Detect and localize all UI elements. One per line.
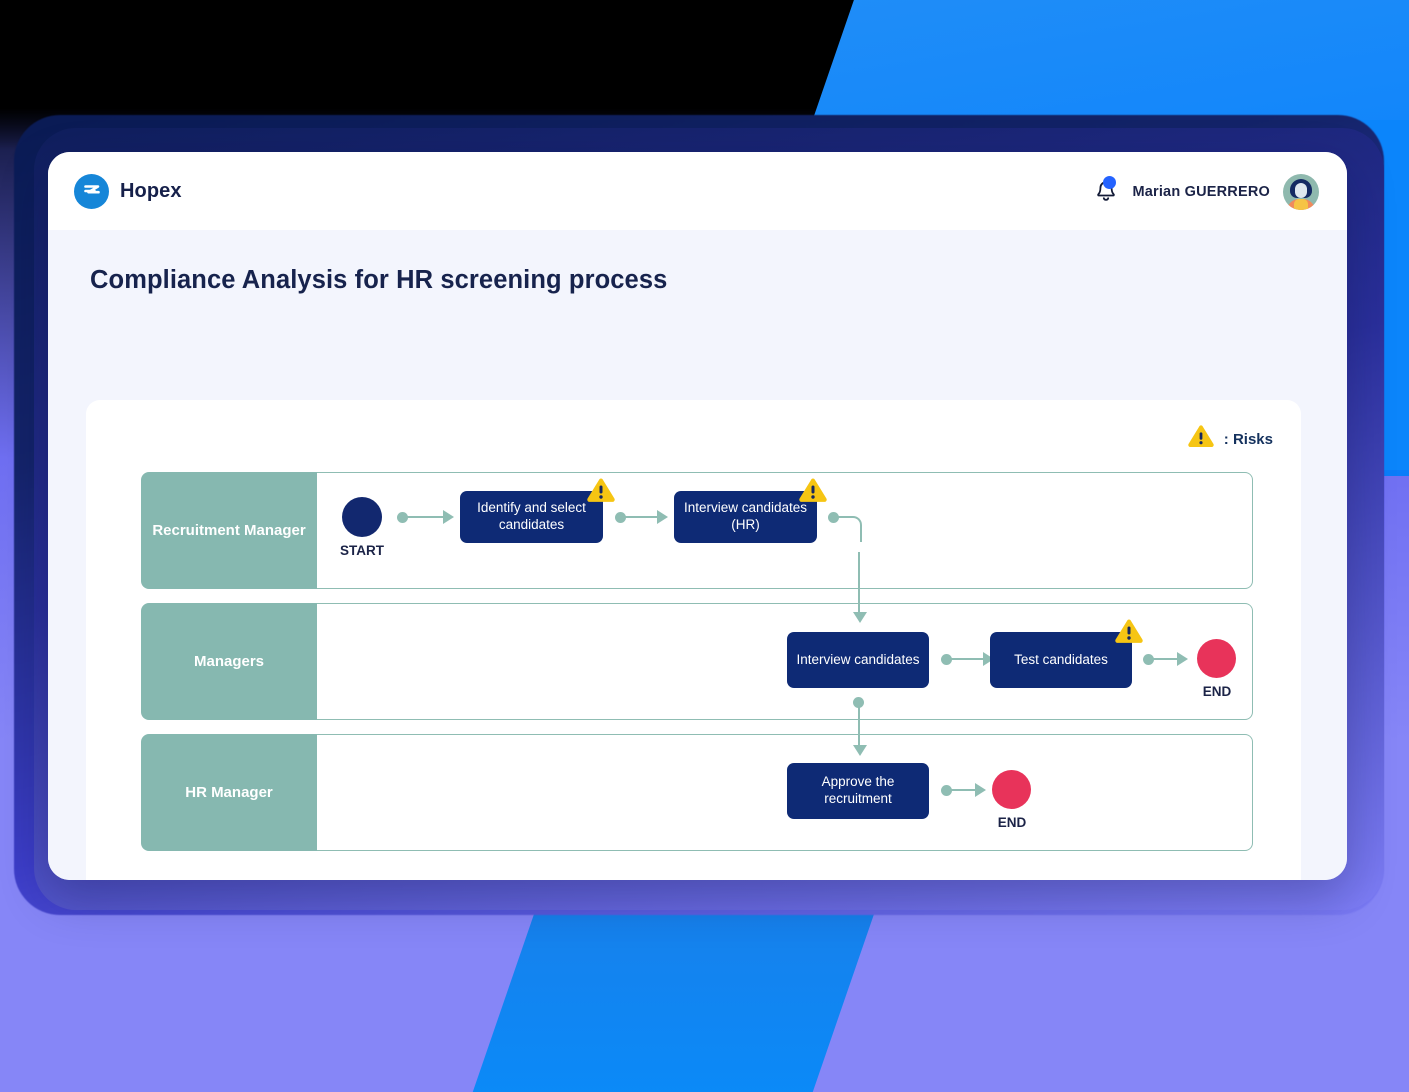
- flow-line: [1153, 658, 1179, 660]
- legend-label: : Risks: [1224, 431, 1273, 448]
- task-interview-candidates[interactable]: Interview candidates: [787, 632, 929, 688]
- page-body: Compliance Analysis for HR screening pro…: [48, 230, 1347, 880]
- end-event-label: END: [1177, 684, 1257, 699]
- task-identify-select-candidates[interactable]: Identify and select candidates: [460, 491, 603, 543]
- lane-header-hr-manager[interactable]: HR Manager: [141, 734, 317, 851]
- brand-logo[interactable]: Hopex: [74, 174, 294, 209]
- flow-line: [951, 789, 977, 791]
- flow-arrowhead: [443, 510, 454, 524]
- flow-arrowhead: [853, 745, 867, 756]
- flow-arrowhead: [1177, 652, 1188, 666]
- avatar-shirt: [1294, 199, 1308, 210]
- end-event-node[interactable]: [1197, 639, 1236, 678]
- lane-header-recruitment-manager[interactable]: Recruitment Manager: [141, 472, 317, 589]
- risk-warning-triangle-icon[interactable]: [586, 477, 616, 504]
- lane-body-hr-manager: Approve the recruitment END: [317, 734, 1253, 851]
- task-label: Interview candidates (HR): [682, 500, 809, 534]
- flow-arrowhead: [975, 783, 986, 797]
- flow-arrowhead: [657, 510, 668, 524]
- flow-dot: [941, 654, 952, 665]
- avatar-face: [1295, 183, 1307, 198]
- lane-recruitment-manager: Recruitment Manager START: [141, 472, 1253, 589]
- page-title: Compliance Analysis for HR screening pro…: [48, 230, 1347, 295]
- flow-line-vertical: [858, 719, 860, 747]
- task-label: Test candidates: [1014, 652, 1108, 669]
- start-event-node[interactable]: [342, 497, 382, 537]
- flow-dot: [397, 512, 408, 523]
- flow-elbow: [838, 516, 862, 542]
- lane-managers: Managers Interview candidates: [141, 603, 1253, 720]
- legend: : Risks: [1187, 424, 1273, 454]
- lane-hr-manager: HR Manager Approve the recruitment: [141, 734, 1253, 851]
- warning-triangle-icon: [1187, 424, 1215, 454]
- flow-line: [951, 658, 985, 660]
- brand-name: Hopex: [120, 180, 182, 203]
- end-event-label: END: [972, 815, 1052, 830]
- flow-dot: [853, 697, 864, 708]
- app-window: Hopex Mari: [48, 152, 1347, 880]
- lane-header-managers[interactable]: Managers: [141, 603, 317, 720]
- flow-line: [407, 516, 445, 518]
- risk-warning-triangle-icon[interactable]: [1114, 618, 1144, 645]
- lane-label: HR Manager: [185, 783, 273, 803]
- lane-label: Managers: [194, 652, 264, 672]
- screenshot-stage: Hopex Mari: [0, 0, 1409, 1092]
- risk-warning-triangle-icon[interactable]: [798, 477, 828, 504]
- swimlane-diagram: Recruitment Manager START: [141, 472, 1253, 865]
- user-name: Marian GUERRERO: [1132, 184, 1270, 200]
- end-event-node[interactable]: [992, 770, 1031, 809]
- diagram-card: : Risks Recruitment Manager START: [86, 400, 1301, 880]
- flow-arrowhead: [853, 612, 867, 623]
- flow-line: [625, 516, 659, 518]
- hopex-zz-logo-icon: [74, 174, 109, 209]
- flow-line-vertical: [858, 552, 860, 614]
- lane-label: Recruitment Manager: [152, 521, 305, 541]
- flow-dot: [828, 512, 839, 523]
- task-interview-candidates-hr[interactable]: Interview candidates (HR): [674, 491, 817, 543]
- task-label: Identify and select candidates: [468, 500, 595, 534]
- task-label: Approve the recruitment: [795, 774, 921, 808]
- flow-dot: [941, 785, 952, 796]
- top-bar: Hopex Mari: [48, 152, 1347, 230]
- lane-body-recruitment-manager: START Identify and select candidates: [317, 472, 1253, 589]
- start-event-label: START: [322, 543, 402, 558]
- task-approve-recruitment[interactable]: Approve the recruitment: [787, 763, 929, 819]
- task-test-candidates[interactable]: Test candidates: [990, 632, 1132, 688]
- notification-bell-icon[interactable]: [1093, 177, 1119, 207]
- task-label: Interview candidates: [796, 652, 919, 669]
- user-area: Marian GUERRERO: [1093, 174, 1319, 210]
- flow-dot: [1143, 654, 1154, 665]
- lane-body-managers: Interview candidates Test candidates: [317, 603, 1253, 720]
- flow-dot: [615, 512, 626, 523]
- avatar[interactable]: [1283, 174, 1319, 210]
